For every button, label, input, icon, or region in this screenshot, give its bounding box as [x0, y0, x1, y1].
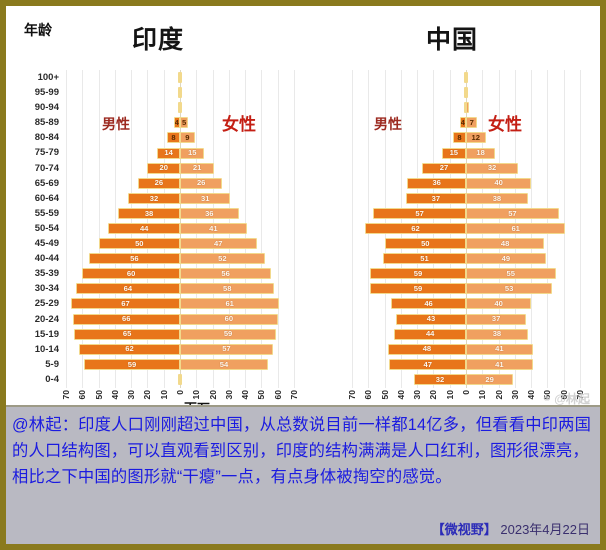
bar-value-female: 41 [209, 225, 217, 233]
pyramid-row: 4438 [352, 327, 580, 342]
x-tick-0: 0 [462, 390, 471, 395]
x-tick-50: 50 [380, 390, 389, 399]
pyramid-row [352, 70, 580, 85]
pyramid-row: 6761 [66, 296, 294, 311]
caption-source: 【微视野】 [432, 522, 497, 537]
bar-male: 8 [167, 132, 180, 143]
pyramid-row: 3738 [352, 191, 580, 206]
bar-value-female: 52 [218, 255, 226, 263]
watermark-text: @林起 [554, 392, 590, 406]
pyramid-row: 3640 [352, 176, 580, 191]
pyramid-row: 2732 [352, 161, 580, 176]
x-tick-10: 10 [478, 390, 487, 399]
bar-value-male: 37 [432, 195, 440, 203]
pyramid-row: 6261 [352, 221, 580, 236]
bar-value-male: 46 [424, 300, 432, 308]
bar-value-male: 4 [461, 119, 465, 127]
age-tick-80-84: 80-84 [20, 130, 62, 145]
pyramid-row: 5047 [66, 236, 294, 251]
age-tick-55-59: 55-59 [20, 206, 62, 221]
bar-value-male: 27 [440, 164, 448, 172]
bar-male: 59 [370, 268, 466, 279]
bar-value-female: 21 [193, 164, 201, 172]
bar-value-female: 9 [185, 134, 189, 142]
bar-value-female: 58 [223, 285, 231, 293]
x-tick-50: 50 [257, 390, 266, 399]
age-tick-10-14: 10-14 [20, 342, 62, 357]
pyramid-row: 4640 [352, 296, 580, 311]
bar-male: 14 [157, 148, 180, 159]
bar-female [466, 87, 468, 98]
bar-value-female: 53 [505, 285, 513, 293]
weibo-icon: ⚭ [541, 391, 552, 406]
bar-value-male: 38 [145, 210, 153, 218]
pyramid-row [66, 372, 294, 387]
bar-female: 18 [466, 148, 495, 159]
bar-male: 65 [74, 329, 180, 340]
bar-value-male: 56 [130, 255, 138, 263]
bar-male: 62 [365, 223, 466, 234]
bar-value-male: 15 [450, 149, 458, 157]
gridline-70 [294, 70, 295, 388]
bar-female: 48 [466, 238, 544, 249]
bar-value-female: 12 [472, 134, 480, 142]
x-tick-30: 30 [225, 390, 234, 399]
age-tick-95-99: 95-99 [20, 85, 62, 100]
pyramid-row: 1518 [352, 145, 580, 160]
legend-female-china: 女性 [488, 110, 522, 135]
bar-value-female: 32 [488, 164, 496, 172]
bar-female: 59 [180, 329, 276, 340]
age-axis-label: 年龄 [24, 20, 52, 40]
pyramid-row [66, 85, 294, 100]
bar-value-female: 5 [182, 119, 186, 127]
bar-value-female: 57 [222, 345, 230, 353]
pyramid-row: 1415 [66, 145, 294, 160]
caption-footer: 【微视野】 2023年4月22日 [432, 519, 590, 538]
x-tick-70: 70 [62, 390, 71, 399]
chart-area: 印度 中国 年龄 100+95-9990-9485-8980-8475-7970… [6, 6, 600, 405]
pyramid-row: 5149 [352, 251, 580, 266]
bar-value-female: 57 [508, 210, 516, 218]
age-tick-70-74: 70-74 [20, 161, 62, 176]
pyramid-row: 4841 [352, 342, 580, 357]
bar-value-female: 59 [224, 330, 232, 338]
bar-female: 49 [466, 253, 546, 264]
x-tick-30: 30 [127, 390, 136, 399]
bar-value-male: 57 [415, 210, 423, 218]
x-tick-70: 70 [348, 390, 357, 399]
pyramid-row: 3231 [66, 191, 294, 206]
pyramid-row [66, 70, 294, 85]
bar-value-female: 29 [485, 376, 493, 384]
pyramid-row [352, 85, 580, 100]
x-tick-20: 20 [429, 390, 438, 399]
bar-value-male: 44 [140, 225, 148, 233]
age-tick-30-34: 30-34 [20, 281, 62, 296]
bar-female [180, 72, 182, 83]
bar-value-male: 44 [426, 330, 434, 338]
bar-male: 32 [128, 193, 180, 204]
bar-female [466, 72, 468, 83]
age-tick-60-64: 60-64 [20, 191, 62, 206]
pyramid-row: 3836 [66, 206, 294, 221]
bar-value-male: 32 [436, 376, 444, 384]
bar-value-female: 26 [197, 179, 205, 187]
bar-value-female: 54 [220, 361, 228, 369]
bar-male: 20 [147, 163, 180, 174]
x-tick-50: 50 [94, 390, 103, 399]
bar-value-male: 50 [421, 240, 429, 248]
bar-value-male: 47 [424, 361, 432, 369]
bar-value-female: 18 [476, 149, 484, 157]
bar-value-female: 47 [214, 240, 222, 248]
pyramid-row: 4741 [352, 357, 580, 372]
bar-female [180, 102, 182, 113]
bar-value-female: 40 [494, 179, 502, 187]
bar-female: 29 [466, 374, 513, 385]
bar-male: 62 [79, 344, 180, 355]
bar-value-male: 64 [124, 285, 132, 293]
bar-value-female: 41 [495, 345, 503, 353]
bar-female: 21 [180, 163, 214, 174]
age-tick-75-79: 75-79 [20, 145, 62, 160]
bar-male: 57 [373, 208, 466, 219]
bar-value-male: 67 [121, 300, 129, 308]
bar-value-male: 20 [159, 164, 167, 172]
x-tick-40: 40 [527, 390, 536, 399]
x-tick-40: 40 [111, 390, 120, 399]
bar-male: 50 [385, 238, 466, 249]
bar-male: 60 [82, 268, 180, 279]
bar-male: 56 [89, 253, 180, 264]
bar-value-female: 31 [201, 195, 209, 203]
pyramid-row: 5955 [352, 266, 580, 281]
bar-female: 40 [466, 298, 531, 309]
age-tick-40-44: 40-44 [20, 251, 62, 266]
bar-value-male: 8 [457, 134, 461, 142]
bar-value-male: 62 [125, 345, 133, 353]
bar-rows-india: 4589141520212626323138364441504756526056… [66, 70, 294, 388]
bar-female: 15 [180, 148, 204, 159]
bar-value-female: 48 [501, 240, 509, 248]
bar-female: 37 [466, 314, 526, 325]
bar-value-female: 49 [502, 255, 510, 263]
bar-male: 26 [138, 178, 180, 189]
pyramid-row: 6660 [66, 312, 294, 327]
bar-male: 51 [383, 253, 466, 264]
bar-value-female: 60 [225, 315, 233, 323]
frame-border-right [600, 0, 606, 550]
bar-female: 58 [180, 283, 274, 294]
bar-male: 15 [442, 148, 466, 159]
gridline-70 [580, 70, 581, 388]
bar-value-female: 37 [492, 315, 500, 323]
age-tick-90-94: 90-94 [20, 100, 62, 115]
bar-female: 60 [180, 314, 278, 325]
bar-value-female: 38 [493, 330, 501, 338]
bar-female [180, 374, 182, 385]
x-tick-20: 20 [494, 390, 503, 399]
bar-female: 5 [180, 117, 188, 128]
bar-male: 50 [99, 238, 180, 249]
pyramid-panel-india: 4589141520212626323138364441504756526056… [66, 70, 294, 388]
bar-female: 7 [466, 117, 477, 128]
pyramid-row: 5652 [66, 251, 294, 266]
bar-male: 66 [73, 314, 180, 325]
bar-female: 32 [466, 163, 518, 174]
age-tick-45-49: 45-49 [20, 236, 62, 251]
bar-female: 26 [180, 178, 222, 189]
bar-male: 64 [76, 283, 180, 294]
pyramid-row [66, 100, 294, 115]
bar-value-female: 41 [495, 361, 503, 369]
bar-male: 67 [71, 298, 180, 309]
bar-value-male: 62 [411, 225, 419, 233]
x-tick-0: 0 [176, 390, 185, 395]
age-tick-35-39: 35-39 [20, 266, 62, 281]
pyramid-row: 5954 [66, 357, 294, 372]
chart-title-china: 中国 [426, 20, 478, 56]
bar-female: 54 [180, 359, 268, 370]
pyramid-row: 5757 [352, 206, 580, 221]
age-tick-50-54: 50-54 [20, 221, 62, 236]
pyramid-row: 4441 [66, 221, 294, 236]
bar-female: 9 [180, 132, 195, 143]
bar-male: 59 [84, 359, 180, 370]
bar-female: 41 [466, 344, 533, 355]
bar-value-male: 14 [164, 149, 172, 157]
bar-male: 47 [389, 359, 466, 370]
pyramid-row: 5953 [352, 281, 580, 296]
legend-female-india: 女性 [222, 110, 256, 135]
bar-value-female: 36 [205, 210, 213, 218]
bar-value-female: 55 [507, 270, 515, 278]
pyramid-row: 45 [66, 115, 294, 130]
bar-male: 32 [414, 374, 466, 385]
bar-female [180, 87, 182, 98]
bar-female: 61 [466, 223, 565, 234]
x-tick-40: 40 [241, 390, 250, 399]
bar-female: 12 [466, 132, 486, 143]
bar-value-male: 8 [171, 134, 175, 142]
age-tick-20-24: 20-24 [20, 312, 62, 327]
x-tick-10: 10 [159, 390, 168, 399]
bar-value-male: 48 [423, 345, 431, 353]
bar-male: 44 [108, 223, 180, 234]
pyramid-row: 89 [66, 130, 294, 145]
bar-value-male: 32 [150, 195, 158, 203]
caption-date: 2023年4月22日 [500, 522, 590, 537]
age-tick-100+: 100+ [20, 70, 62, 85]
pyramid-row: 4337 [352, 312, 580, 327]
bar-female: 61 [180, 298, 279, 309]
age-tick-25-29: 25-29 [20, 296, 62, 311]
bar-female: 41 [180, 223, 247, 234]
x-tick-10: 10 [445, 390, 454, 399]
x-tick-60: 60 [78, 390, 87, 399]
x-tick-70: 70 [290, 390, 299, 399]
caption-block: @林起：印度人口刚刚超过中国，从总数说目前一样都14亿多，但看看中印两国的人口结… [6, 405, 600, 544]
bar-male: 44 [394, 329, 466, 340]
bar-female: 40 [466, 178, 531, 189]
bar-value-male: 36 [432, 179, 440, 187]
bar-male: 36 [407, 178, 466, 189]
age-tick-labels: 100+95-9990-9485-8980-8475-7970-7465-696… [20, 70, 62, 387]
x-tick-30: 30 [511, 390, 520, 399]
bar-value-male: 4 [175, 119, 179, 127]
frame-border-bottom [0, 544, 606, 550]
pyramid-row: 2021 [66, 161, 294, 176]
age-tick-0-4: 0-4 [20, 372, 62, 387]
bar-value-male: 50 [135, 240, 143, 248]
pyramid-row: 6458 [66, 281, 294, 296]
bar-female: 36 [180, 208, 239, 219]
bar-female: 38 [466, 329, 528, 340]
bar-female: 31 [180, 193, 230, 204]
age-tick-5-9: 5-9 [20, 357, 62, 372]
bar-female: 52 [180, 253, 265, 264]
caption-text: @林起：印度人口刚刚超过中国，从总数说目前一样都14亿多，但看看中印两国的人口结… [12, 412, 594, 490]
bar-female: 53 [466, 283, 552, 294]
x-tick-20: 20 [143, 390, 152, 399]
bar-value-female: 61 [225, 300, 233, 308]
x-tick-40: 40 [397, 390, 406, 399]
bar-value-male: 60 [127, 270, 135, 278]
population-pyramid-infographic: 印度 中国 年龄 100+95-9990-9485-8980-8475-7970… [0, 0, 606, 550]
bar-male: 38 [118, 208, 180, 219]
bar-female: 57 [180, 344, 273, 355]
bar-female: 57 [466, 208, 559, 219]
legend-male-china: 男性 [374, 114, 402, 134]
pyramid-row: 2626 [66, 176, 294, 191]
bar-male: 27 [422, 163, 466, 174]
bar-value-male: 26 [155, 179, 163, 187]
pyramid-row: 5048 [352, 236, 580, 251]
bar-male: 43 [396, 314, 466, 325]
bar-female: 41 [466, 359, 533, 370]
pyramid-row: 6056 [66, 266, 294, 281]
pyramid-row: 6257 [66, 342, 294, 357]
age-tick-85-89: 85-89 [20, 115, 62, 130]
bar-value-male: 59 [414, 270, 422, 278]
bar-value-male: 59 [128, 361, 136, 369]
x-tick-60: 60 [364, 390, 373, 399]
bar-female: 55 [466, 268, 556, 279]
bar-value-male: 66 [122, 315, 130, 323]
bar-male: 46 [391, 298, 466, 309]
bar-male: 59 [370, 283, 466, 294]
bar-value-female: 7 [470, 119, 474, 127]
pyramid-row: 3229 [352, 372, 580, 387]
bar-value-male: 65 [123, 330, 131, 338]
bar-value-male: 51 [420, 255, 428, 263]
pyramid-row: 6559 [66, 327, 294, 342]
bar-value-male: 43 [427, 315, 435, 323]
bar-value-female: 15 [188, 149, 196, 157]
x-tick-30: 30 [413, 390, 422, 399]
bar-female: 56 [180, 268, 271, 279]
bar-female [466, 102, 469, 113]
chart-title-india: 印度 [132, 20, 184, 56]
bar-male: 48 [388, 344, 466, 355]
bar-value-female: 56 [221, 270, 229, 278]
bar-male: 8 [453, 132, 466, 143]
x-tick-60: 60 [273, 390, 282, 399]
bar-male: 37 [406, 193, 466, 204]
legend-male-india: 男性 [102, 114, 130, 134]
bar-female: 47 [180, 238, 257, 249]
age-tick-65-69: 65-69 [20, 176, 62, 191]
age-tick-15-19: 15-19 [20, 327, 62, 342]
bar-female: 38 [466, 193, 528, 204]
bar-value-female: 38 [493, 195, 501, 203]
bar-value-female: 40 [494, 300, 502, 308]
bar-value-female: 61 [511, 225, 519, 233]
bar-value-male: 59 [414, 285, 422, 293]
